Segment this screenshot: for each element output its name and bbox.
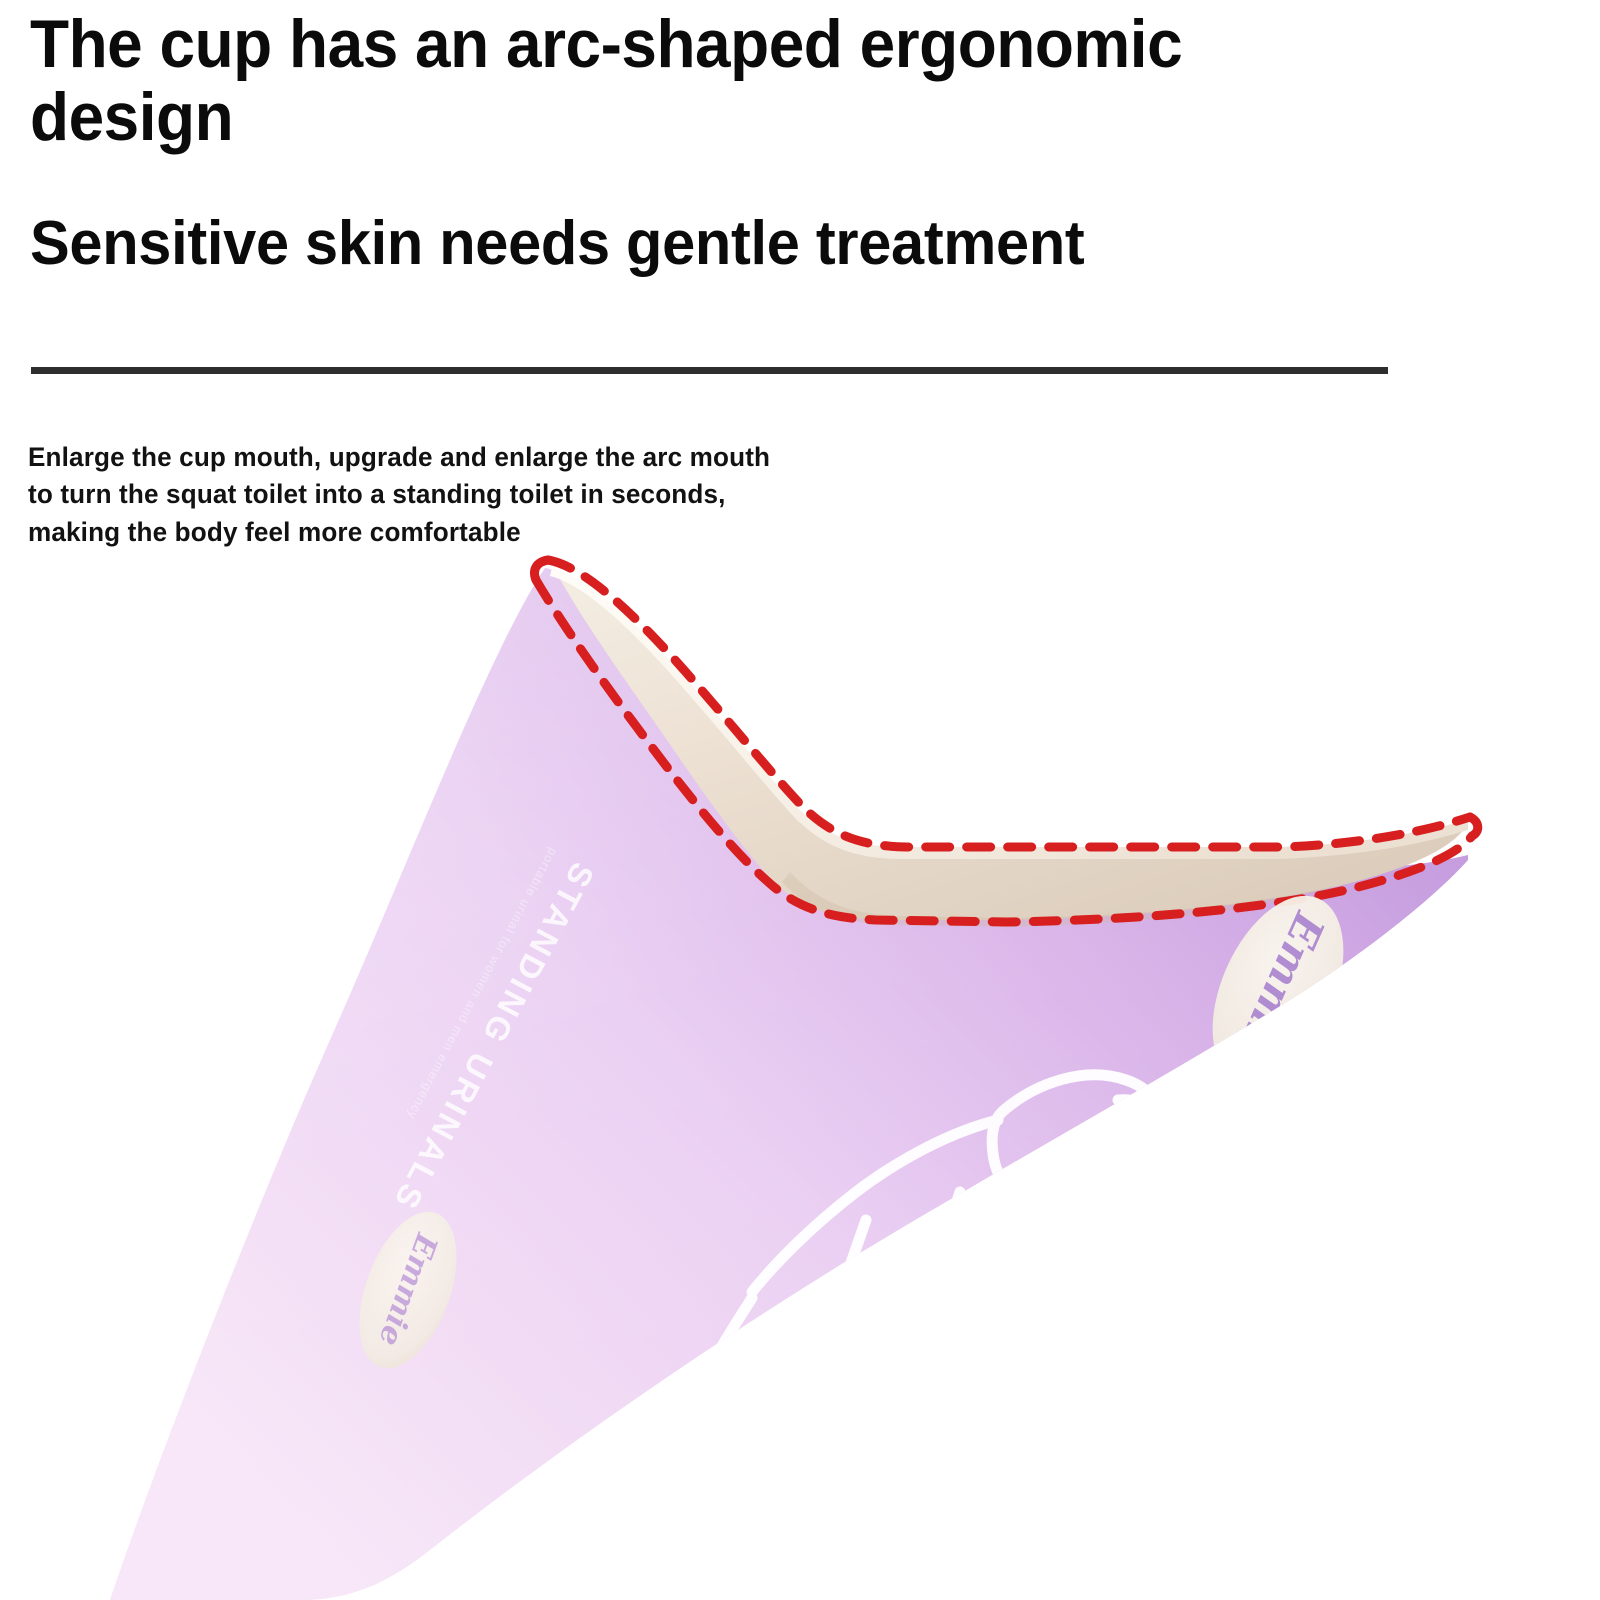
arc-outline-right-cap bbox=[1470, 817, 1478, 836]
product-illustration: STANDING URINALS portable urinal for wom… bbox=[0, 520, 1600, 1600]
product-svg: STANDING URINALS portable urinal for wom… bbox=[0, 520, 1600, 1600]
cup-body-sheen bbox=[110, 568, 1468, 1600]
cup-body-group bbox=[110, 568, 1468, 1600]
headline-secondary: Sensitive skin needs gentle treatment bbox=[30, 210, 1374, 278]
headline-block: The cup has an arc-shaped ergonomic desi… bbox=[30, 8, 1370, 155]
section-divider bbox=[31, 367, 1388, 374]
headline-primary: The cup has an arc-shaped ergonomic desi… bbox=[30, 8, 1290, 155]
product-feature-page: The cup has an arc-shaped ergonomic desi… bbox=[0, 0, 1600, 1600]
